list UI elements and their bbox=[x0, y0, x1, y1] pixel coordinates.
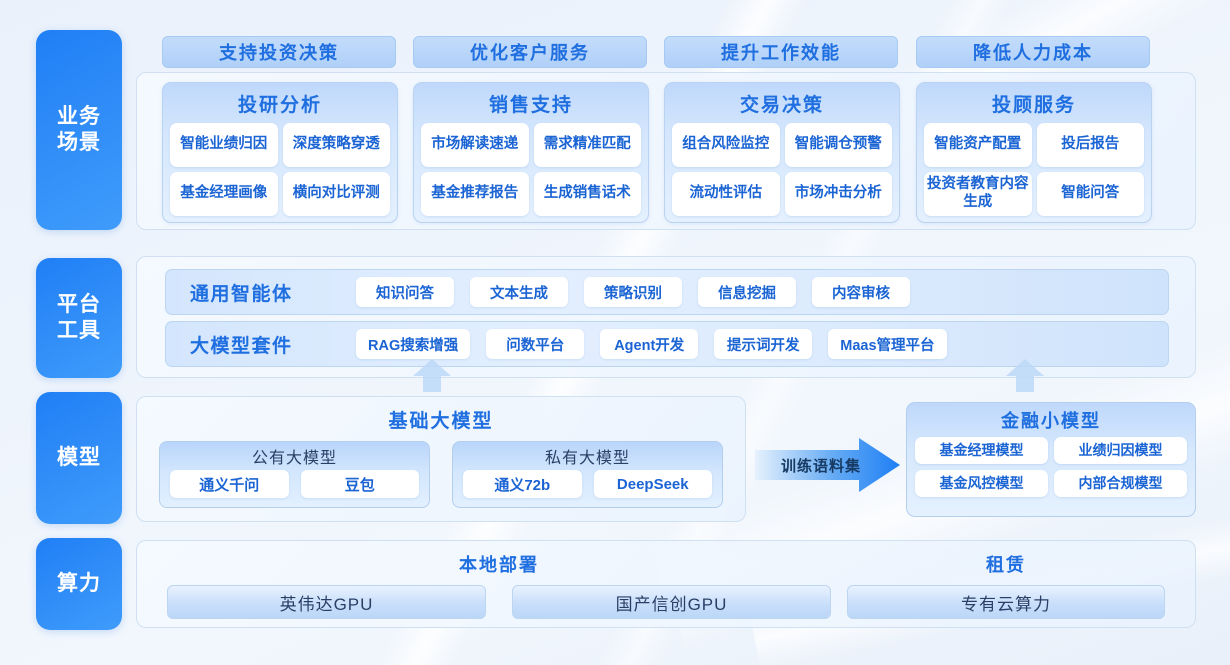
architecture-diagram: 业务 场景 平台 工具 模型 算力 支持投资决策 优化客户服务 提升工作效能 降… bbox=[0, 0, 1230, 665]
rail-item-platform-tools[interactable]: 平台 工具 bbox=[36, 258, 122, 378]
base-models-title: 基础大模型 bbox=[137, 397, 745, 433]
scenario-card[interactable]: 投研分析 智能业绩归因 深度策略穿透 基金经理画像 横向对比评测 bbox=[162, 82, 398, 223]
model-chip[interactable]: 豆包 bbox=[301, 470, 420, 498]
scenario-card-title: 投顾服务 bbox=[917, 83, 1151, 123]
scenario-chip[interactable]: 市场解读速递 bbox=[421, 123, 529, 167]
platform-chip[interactable]: Agent开发 bbox=[600, 329, 698, 359]
scenario-chip[interactable]: 投后报告 bbox=[1037, 123, 1145, 167]
goal-pill[interactable]: 优化客户服务 bbox=[413, 36, 647, 68]
platform-row-label: 大模型套件 bbox=[166, 331, 356, 358]
scenario-chip[interactable]: 智能调仓预警 bbox=[785, 123, 893, 167]
platform-chip[interactable]: 问数平台 bbox=[486, 329, 584, 359]
rail-label: 模型 bbox=[57, 445, 101, 471]
model-chip-list: 通义千问 豆包 bbox=[160, 470, 429, 507]
goal-pill[interactable]: 降低人力成本 bbox=[916, 36, 1150, 68]
scenario-chip-grid: 市场解读速递 需求精准匹配 基金推荐报告 生成销售话术 bbox=[414, 123, 648, 223]
scenario-chip[interactable]: 基金经理画像 bbox=[170, 172, 278, 216]
base-models-panel: 基础大模型 公有大模型 通义千问 豆包 私有大模型 通义72b DeepSeek bbox=[136, 396, 746, 522]
model-box-title: 私有大模型 bbox=[453, 442, 722, 470]
platform-chip[interactable]: 信息挖掘 bbox=[698, 277, 796, 307]
small-model-chip-grid: 基金经理模型 业绩归因模型 基金风控模型 内部合规模型 bbox=[907, 437, 1195, 505]
platform-chip-list: 知识问答 文本生成 策略识别 信息挖掘 内容审核 bbox=[356, 277, 910, 307]
scenario-card[interactable]: 销售支持 市场解读速递 需求精准匹配 基金推荐报告 生成销售话术 bbox=[413, 82, 649, 223]
platform-chip-list: RAG搜索增强 问数平台 Agent开发 提示词开发 Maas管理平台 bbox=[356, 329, 947, 359]
compute-group-title: 租赁 bbox=[839, 541, 1173, 577]
platform-chip[interactable]: 内容审核 bbox=[812, 277, 910, 307]
compute-panel: 本地部署 英伟达GPU 国产信创GPU 租赁 专有云算力 bbox=[136, 540, 1196, 628]
platform-row-general-agent: 通用智能体 知识问答 文本生成 策略识别 信息挖掘 内容审核 bbox=[165, 269, 1169, 315]
scenario-chip-grid: 组合风险监控 智能调仓预警 流动性评估 市场冲击分析 bbox=[665, 123, 899, 223]
model-chip-list: 通义72b DeepSeek bbox=[453, 470, 722, 507]
model-chip[interactable]: DeepSeek bbox=[594, 470, 713, 498]
platform-chip[interactable]: 文本生成 bbox=[470, 277, 568, 307]
arrow-up-icon bbox=[412, 358, 452, 392]
small-model-chip[interactable]: 基金经理模型 bbox=[915, 437, 1048, 464]
scenario-card[interactable]: 投顾服务 智能资产配置 投后报告 投资者教育内容生成 智能问答 bbox=[916, 82, 1152, 223]
compute-chip[interactable]: 英伟达GPU bbox=[167, 585, 486, 619]
rail-item-models[interactable]: 模型 bbox=[36, 392, 122, 524]
model-chip[interactable]: 通义千问 bbox=[170, 470, 289, 498]
financial-small-model-card[interactable]: 金融小模型 基金经理模型 业绩归因模型 基金风控模型 内部合规模型 bbox=[906, 402, 1196, 517]
model-box-public[interactable]: 公有大模型 通义千问 豆包 bbox=[159, 441, 430, 508]
small-model-chip[interactable]: 业绩归因模型 bbox=[1054, 437, 1187, 464]
compute-chip-list: 英伟达GPU 国产信创GPU bbox=[159, 577, 839, 619]
rail-item-compute[interactable]: 算力 bbox=[36, 538, 122, 630]
model-box-title: 公有大模型 bbox=[160, 442, 429, 470]
scenario-card-title: 交易决策 bbox=[665, 83, 899, 123]
training-corpus-label: 训练语料集 bbox=[769, 438, 873, 492]
platform-row-label: 通用智能体 bbox=[166, 279, 356, 306]
scenario-chip-grid: 智能业绩归因 深度策略穿透 基金经理画像 横向对比评测 bbox=[163, 123, 397, 223]
scenario-card-title: 投研分析 bbox=[163, 83, 397, 123]
compute-group-title: 本地部署 bbox=[159, 541, 839, 577]
compute-chip-list: 专有云算力 bbox=[839, 577, 1173, 619]
scenario-chip-grid: 智能资产配置 投后报告 投资者教育内容生成 智能问答 bbox=[917, 123, 1151, 223]
platform-chip[interactable]: RAG搜索增强 bbox=[356, 329, 470, 359]
platform-chip[interactable]: 提示词开发 bbox=[714, 329, 812, 359]
platform-chip[interactable]: 策略识别 bbox=[584, 277, 682, 307]
scenario-chip[interactable]: 智能问答 bbox=[1037, 172, 1145, 216]
rail-label: 算力 bbox=[57, 571, 101, 597]
scenario-chip[interactable]: 组合风险监控 bbox=[672, 123, 780, 167]
scenario-chip[interactable]: 投资者教育内容生成 bbox=[924, 172, 1032, 216]
training-corpus-arrow: 训练语料集 bbox=[755, 438, 900, 492]
scenario-chip[interactable]: 深度策略穿透 bbox=[283, 123, 391, 167]
rail-label: 平台 工具 bbox=[57, 292, 101, 343]
compute-chip[interactable]: 专有云算力 bbox=[847, 585, 1165, 619]
scenario-chip[interactable]: 横向对比评测 bbox=[283, 172, 391, 216]
scenario-chip[interactable]: 基金推荐报告 bbox=[421, 172, 529, 216]
platform-chip[interactable]: 知识问答 bbox=[356, 277, 454, 307]
scenario-card[interactable]: 交易决策 组合风险监控 智能调仓预警 流动性评估 市场冲击分析 bbox=[664, 82, 900, 223]
rail-label: 业务 场景 bbox=[57, 104, 101, 155]
scenario-chip[interactable]: 需求精准匹配 bbox=[534, 123, 642, 167]
goal-pill[interactable]: 支持投资决策 bbox=[162, 36, 396, 68]
scenario-chip[interactable]: 智能资产配置 bbox=[924, 123, 1032, 167]
goal-pill[interactable]: 提升工作效能 bbox=[664, 36, 898, 68]
compute-group-local: 本地部署 英伟达GPU 国产信创GPU bbox=[159, 541, 839, 619]
model-chip[interactable]: 通义72b bbox=[463, 470, 582, 498]
model-box-list: 公有大模型 通义千问 豆包 私有大模型 通义72b DeepSeek bbox=[137, 433, 745, 508]
scenario-chip[interactable]: 流动性评估 bbox=[672, 172, 780, 216]
scenario-chip[interactable]: 智能业绩归因 bbox=[170, 123, 278, 167]
scenario-card-title: 销售支持 bbox=[414, 83, 648, 123]
small-model-title: 金融小模型 bbox=[907, 403, 1195, 437]
model-box-private[interactable]: 私有大模型 通义72b DeepSeek bbox=[452, 441, 723, 508]
compute-group-rental: 租赁 专有云算力 bbox=[839, 541, 1173, 619]
arrow-up-icon bbox=[1005, 358, 1045, 392]
small-model-chip[interactable]: 内部合规模型 bbox=[1054, 470, 1187, 497]
platform-chip[interactable]: Maas管理平台 bbox=[828, 329, 946, 359]
scenario-chip[interactable]: 生成销售话术 bbox=[534, 172, 642, 216]
compute-chip[interactable]: 国产信创GPU bbox=[512, 585, 831, 619]
rail-item-business-scenarios[interactable]: 业务 场景 bbox=[36, 30, 122, 230]
scenario-chip[interactable]: 市场冲击分析 bbox=[785, 172, 893, 216]
small-model-chip[interactable]: 基金风控模型 bbox=[915, 470, 1048, 497]
